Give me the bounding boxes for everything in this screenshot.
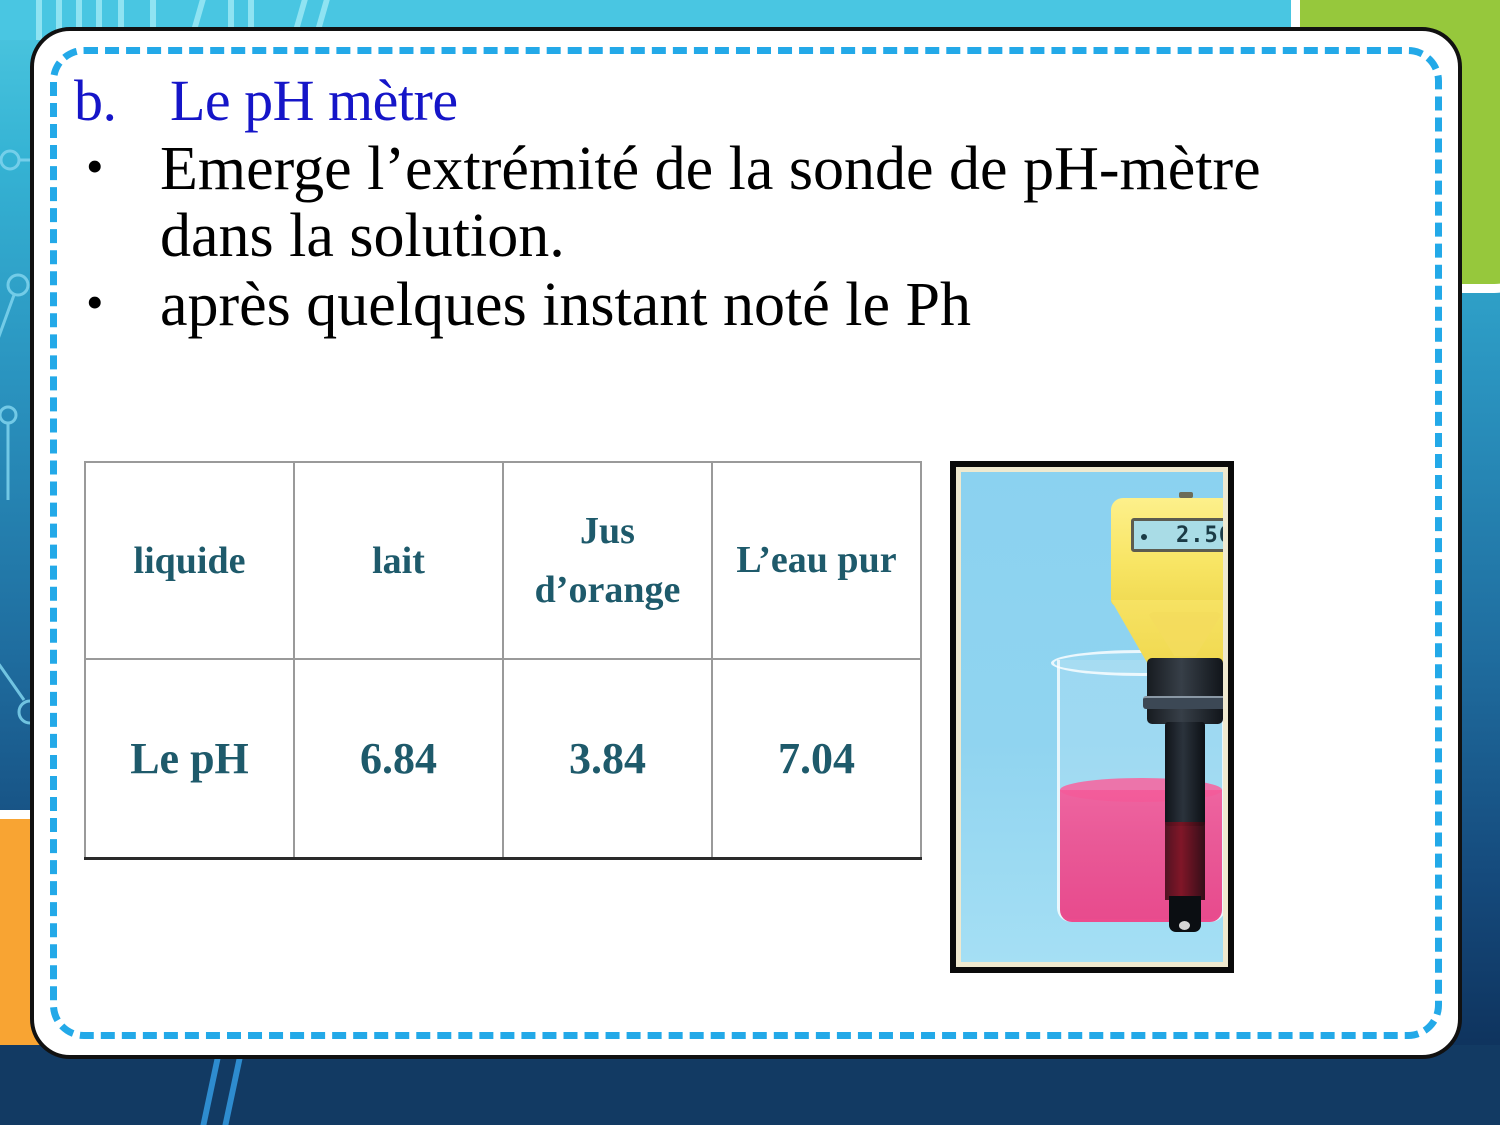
table-header-row: liquide lait Jus d’orange L’eau pur bbox=[85, 462, 921, 659]
table-and-photo-row: liquide lait Jus d’orange L’eau pur Le p… bbox=[84, 461, 1424, 973]
bullet-dot-icon: • bbox=[68, 136, 160, 196]
ph-meter-body bbox=[1111, 498, 1223, 606]
table-header-cell-lait: lait bbox=[294, 462, 503, 659]
table-row: Le pH 6.84 3.84 7.04 bbox=[85, 659, 921, 858]
lcd-indicator-dot bbox=[1141, 534, 1147, 540]
card-content: b. Le pH mètre • Emerge l’extrémité de l… bbox=[68, 61, 1424, 1025]
table-cell-ph-leau-pur: 7.04 bbox=[712, 659, 921, 858]
probe-collar bbox=[1147, 658, 1223, 724]
bullet-dot-icon: • bbox=[68, 272, 160, 332]
probe-ring bbox=[1143, 696, 1223, 709]
probe-submerged-section bbox=[1165, 822, 1205, 900]
page-title: Le pH mètre bbox=[170, 71, 458, 130]
title-list-marker: b. bbox=[74, 71, 170, 130]
content-card: b. Le pH mètre • Emerge l’extrémité de l… bbox=[30, 27, 1462, 1059]
lcd-reading: 2.56 bbox=[1176, 523, 1223, 548]
list-item: • après quelques instant noté le Ph bbox=[68, 272, 1424, 339]
table-row-label-le-ph: Le pH bbox=[85, 659, 294, 858]
photo-frame: 2.56 bbox=[950, 461, 1234, 973]
table-cell-ph-lait: 6.84 bbox=[294, 659, 503, 858]
table-header-cell-liquide: liquide bbox=[85, 462, 294, 659]
ph-measurements-table: liquide lait Jus d’orange L’eau pur Le p… bbox=[84, 461, 922, 860]
ph-meter-photo: 2.56 bbox=[961, 472, 1223, 962]
slide-canvas: b. Le pH mètre • Emerge l’extrémité de l… bbox=[0, 0, 1500, 1125]
bullet-text: Emerge l’extrémité de la sonde de pH-mèt… bbox=[160, 136, 1424, 270]
probe-shaft bbox=[1165, 722, 1205, 826]
table-cell-ph-jus-dorange: 3.84 bbox=[503, 659, 712, 858]
table-header-cell-leau-pur: L’eau pur bbox=[712, 462, 921, 659]
bullet-list: • Emerge l’extrémité de la sonde de pH-m… bbox=[68, 136, 1424, 339]
bullet-text: après quelques instant noté le Ph bbox=[160, 272, 1424, 339]
slide-title-row: b. Le pH mètre bbox=[74, 71, 1424, 130]
lcd-display: 2.56 bbox=[1131, 518, 1223, 552]
table-header-cell-jus-dorange: Jus d’orange bbox=[503, 462, 712, 659]
list-item: • Emerge l’extrémité de la sonde de pH-m… bbox=[68, 136, 1424, 270]
probe-tip-bulb bbox=[1179, 921, 1190, 930]
